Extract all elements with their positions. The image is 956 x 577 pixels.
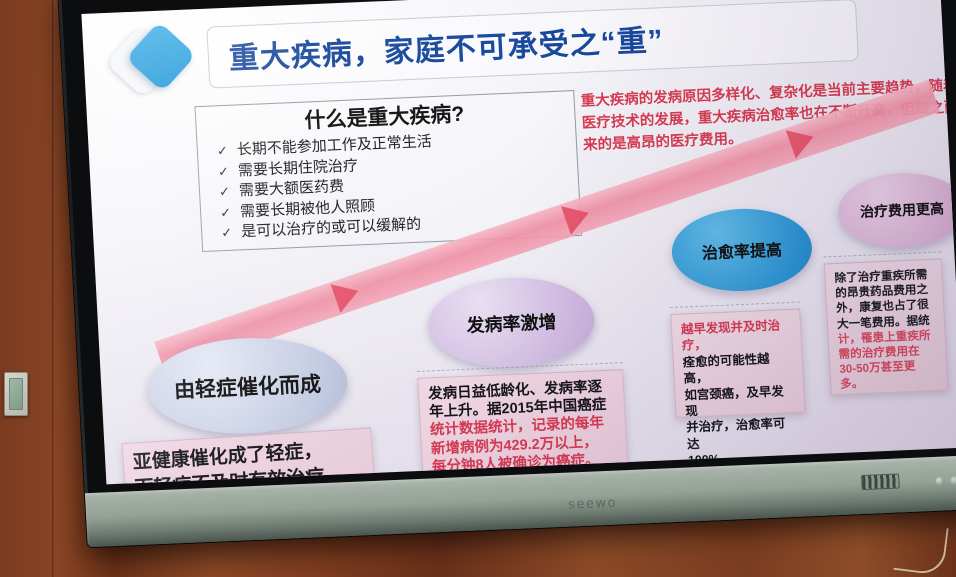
stage-label: 由轻症催化而成: [173, 368, 321, 404]
wall-socket-plate[interactable]: [4, 372, 28, 416]
menu-button-icon[interactable]: [950, 475, 956, 484]
stage-label: 治愈率提高: [701, 236, 782, 263]
callout-line: 痊愈的可能性越高，: [682, 350, 794, 387]
interactive-flat-panel[interactable]: 重大疾病，家庭不可承受之“重” 什么是重大疾病? ✓长期不能参加工作及正常生活 …: [58, 0, 956, 547]
arrow-right-icon: [561, 199, 594, 235]
check-icon: ✓: [220, 202, 233, 223]
stage-oval-4[interactable]: 治疗费用更高: [836, 170, 956, 249]
port-panel-icon[interactable]: [861, 473, 900, 490]
callout-line: 并治疗，治愈率可达: [686, 415, 798, 452]
port-slots: [862, 475, 899, 490]
callout-line: 30-50万甚至更多。: [839, 358, 939, 393]
callout-divider: [670, 302, 800, 309]
stage-oval-3[interactable]: 治愈率提高: [670, 206, 814, 294]
arrow-right-icon: [331, 277, 364, 313]
callout-line: 如宫颈癌，及早发现: [684, 382, 796, 419]
check-icon: ✓: [219, 182, 232, 203]
callout-cure-rate: 越早发现并及时治疗， 痊愈的可能性越高， 如宫颈癌，及早发现 并治疗，治愈率可达…: [670, 309, 805, 418]
arrow-right-icon: [786, 123, 819, 159]
stage-oval-2[interactable]: 发病率激增: [426, 274, 597, 370]
check-icon: ✓: [221, 223, 234, 244]
check-icon: ✓: [217, 161, 230, 182]
power-button-icon[interactable]: [935, 476, 944, 485]
stage-label: 治疗费用更高: [860, 198, 945, 222]
check-icon: ✓: [216, 141, 229, 162]
callout-line: 越早发现并及时治疗，: [681, 317, 793, 354]
room-scene: 重大疾病，家庭不可承受之“重” 什么是重大疾病? ✓长期不能参加工作及正常生活 …: [0, 0, 956, 577]
slide-canvas[interactable]: 重大疾病，家庭不可承受之“重” 什么是重大疾病? ✓长期不能参加工作及正常生活 …: [81, 0, 956, 484]
wall-socket-inner: [9, 378, 23, 410]
callout-divider: [823, 251, 941, 257]
wall-panel-seam: [52, 0, 55, 577]
brand-logo: seewo: [568, 496, 618, 513]
stage-label: 发病率激增: [466, 307, 557, 337]
callout-treatment-cost: 除了治疗重疾所需 的昂贵药品费用之 外，康复也占了很 大一笔费用。据统 计，罹患…: [824, 258, 949, 395]
tv-control-buttons[interactable]: [911, 472, 956, 490]
